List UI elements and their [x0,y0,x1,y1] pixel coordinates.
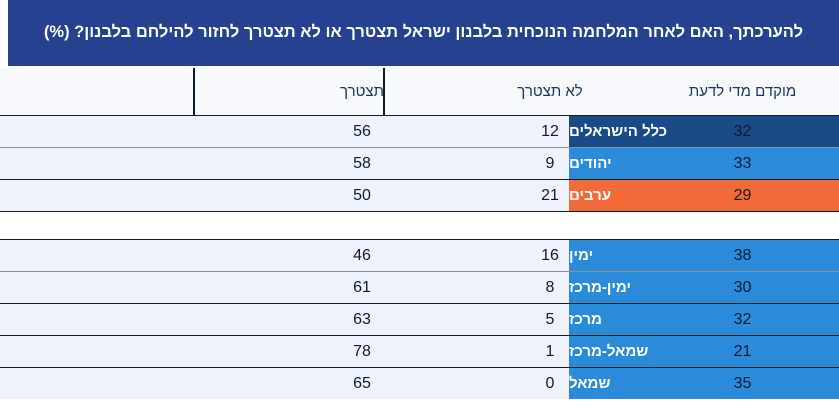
table-row: ימין 46 16 38 [0,240,839,271]
cell-too-early: 32 [646,304,839,335]
cell-will-not-need: 8 [456,272,644,303]
cell-will-need: 65 [270,368,454,399]
header-divider-1 [383,68,385,115]
cell-will-need: 58 [270,148,454,179]
table-row: ערבים 50 21 29 [0,180,839,211]
cell-too-early: 38 [646,240,839,271]
table-row: שמאל-מרכז 78 1 21 [0,336,839,367]
chart-title-banner: להערכתך, האם לאחר המלחמה הנוכחית בלבנון … [8,0,839,66]
table-body: כלל הישראלים 56 12 32 יהודים 58 9 33 ערב… [0,115,839,399]
table-row: כלל הישראלים 56 12 32 [0,116,839,147]
cell-will-need: 63 [270,304,454,335]
cell-will-need: 46 [270,240,454,271]
cell-will-not-need: 9 [456,148,644,179]
cell-will-not-need: 5 [456,304,644,335]
table-row: יהודים 58 9 33 [0,148,839,179]
cell-will-need: 78 [270,336,454,367]
cell-will-not-need: 21 [456,180,644,211]
cell-too-early: 29 [646,180,839,211]
header-col-will-need: תצטרך [270,68,454,115]
table-row: ימין-מרכז 61 8 30 [0,272,839,303]
group-spacer [0,212,839,239]
table-row: מרכז 63 5 32 [0,304,839,335]
header-col-too-early: מוקדם מדי לדעת [646,68,839,115]
cell-will-not-need: 16 [456,240,644,271]
header-divider-2 [193,68,195,115]
cell-too-early: 35 [646,368,839,399]
cell-too-early: 33 [646,148,839,179]
cell-will-need: 61 [270,272,454,303]
cell-too-early: 32 [646,116,839,147]
table-row: שמאל 65 0 35 [0,368,839,399]
survey-table-chart: להערכתך, האם לאחר המלחמה הנוכחית בלבנון … [0,0,839,409]
table-header-row: תצטרך לא תצטרך מוקדם מדי לדעת [0,68,839,115]
cell-will-not-need: 1 [456,336,644,367]
cell-too-early: 21 [646,336,839,367]
header-category [0,68,270,115]
cell-will-need: 56 [270,116,454,147]
header-col-will-not-need: לא תצטרך [456,68,644,115]
cell-will-not-need: 12 [456,116,644,147]
cell-will-need: 50 [270,180,454,211]
cell-will-not-need: 0 [456,368,644,399]
cell-too-early: 30 [646,272,839,303]
chart-title: להערכתך, האם לאחר המלחמה הנוכחית בלבנון … [44,21,803,44]
